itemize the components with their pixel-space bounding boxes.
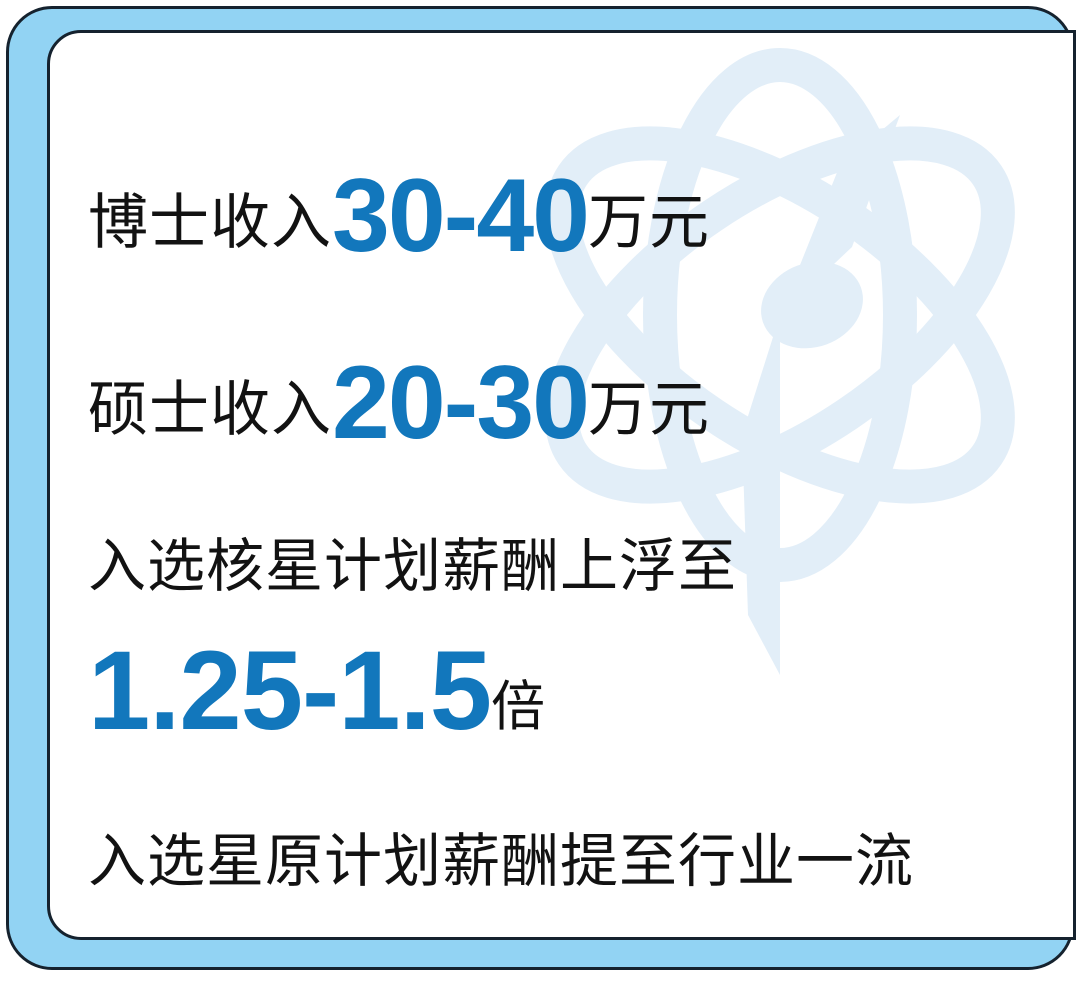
card-inner-panel: 博士收入30-40万元 硕士收入20-30万元 入选核星计划薪酬上浮至 1.25… [47, 30, 1076, 940]
line-phd-income: 博士收入30-40万元 [88, 156, 710, 260]
line-xingyuan-program: 入选星原计划薪酬提至行业一流 [88, 833, 914, 891]
line-phd-suffix: 万元 [588, 189, 710, 256]
card-content: 博士收入30-40万元 硕士收入20-30万元 入选核星计划薪酬上浮至 1.25… [88, 33, 1048, 937]
salary-infographic-card: 博士收入30-40万元 硕士收入20-30万元 入选核星计划薪酬上浮至 1.25… [0, 0, 1080, 988]
line-phd-prefix: 博士收入 [88, 189, 332, 256]
line-master-suffix: 万元 [588, 376, 710, 443]
line-master-value: 20-30 [332, 345, 588, 461]
line-multiplier: 1.25-1.5倍 [88, 635, 546, 747]
line-master-income: 硕士收入20-30万元 [88, 343, 710, 447]
line-hexing-program: 入选核星计划薪酬上浮至 [88, 538, 737, 596]
line-multiplier-value: 1.25-1.5 [88, 628, 491, 753]
line-hexing-text: 入选核星计划薪酬上浮至 [88, 534, 737, 599]
line-phd-value: 30-40 [332, 158, 588, 274]
line-master-prefix: 硕士收入 [88, 376, 332, 443]
line-multiplier-suffix: 倍 [491, 677, 546, 737]
line-xingyuan-text: 入选星原计划薪酬提至行业一流 [88, 829, 914, 894]
